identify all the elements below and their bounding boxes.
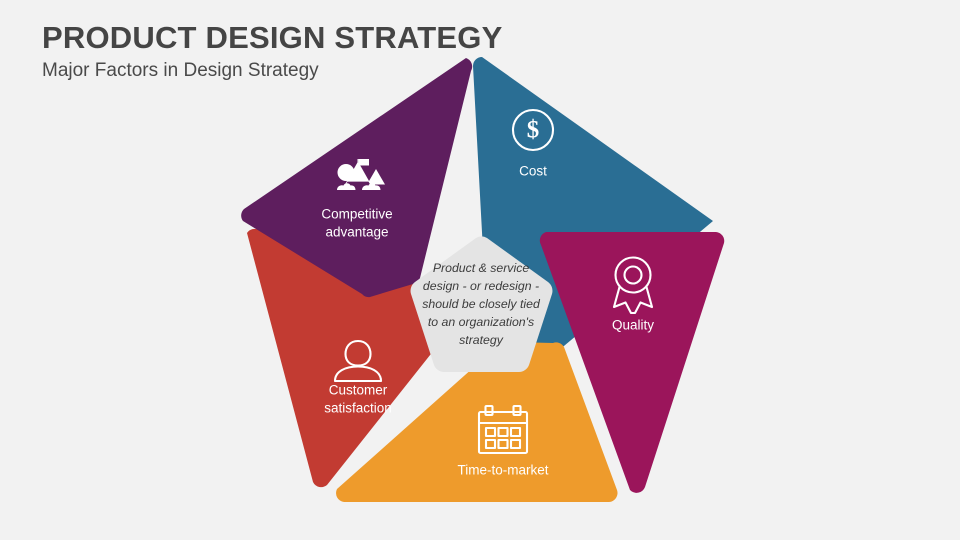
segment-cost-label: Cost bbox=[519, 164, 547, 179]
segment-competitive-advantage-label-line2: advantage bbox=[325, 225, 388, 240]
segment-time-to-market-label: Time-to-market bbox=[457, 463, 548, 478]
segment-competitive-advantage-label-line1: Competitive bbox=[321, 207, 392, 222]
pentagon-diagram: $ Cost Quality bbox=[0, 0, 960, 540]
segment-quality-label: Quality bbox=[612, 318, 654, 333]
slide: PRODUCT DESIGN STRATEGY Major Factors in… bbox=[0, 0, 960, 540]
center-text-line-2: design - or redesign - bbox=[423, 279, 539, 293]
center-text-line-1: Product & service bbox=[433, 261, 530, 275]
center-text-line-4: to an organization's bbox=[428, 315, 534, 329]
svg-text:$: $ bbox=[527, 117, 540, 144]
segment-customer-satisfaction-label-line2: satisfaction bbox=[324, 401, 392, 416]
segment-customer-satisfaction-label-line1: Customer bbox=[329, 383, 388, 398]
center-text-line-3: should be closely tied bbox=[422, 297, 541, 311]
center-text-line-5: strategy bbox=[459, 333, 504, 347]
